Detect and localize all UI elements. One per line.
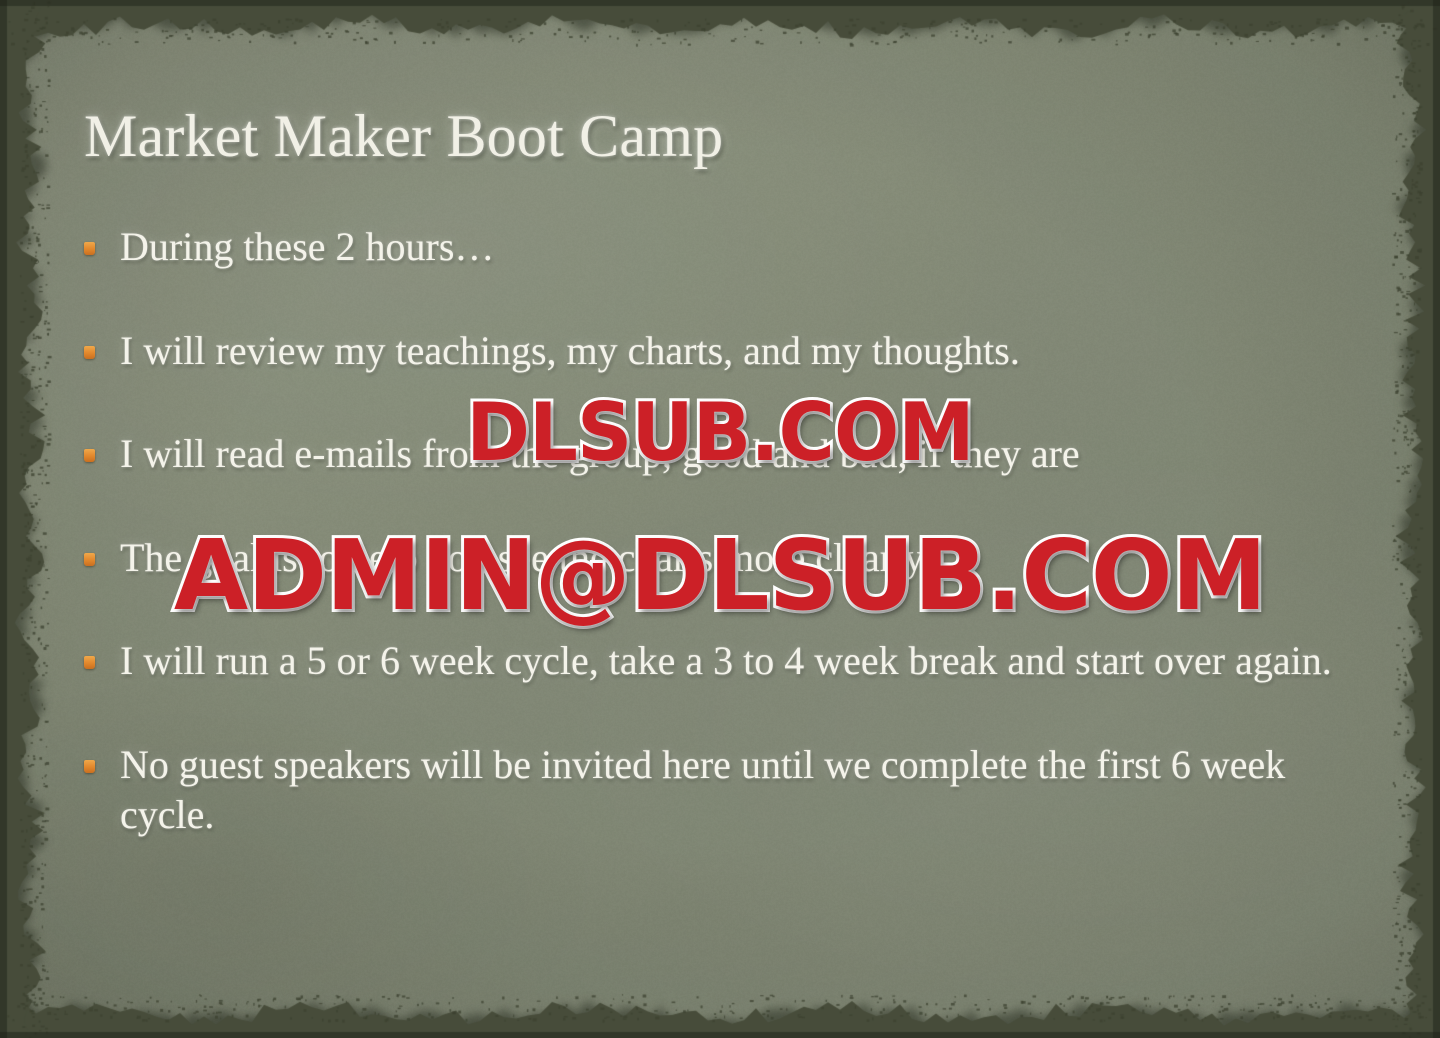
square-bullet-icon	[84, 760, 95, 773]
list-item: During these 2 hours…	[72, 222, 1362, 272]
page-title: Market Maker Boot Camp	[84, 106, 723, 166]
list-item: No guest speakers will be invited here u…	[72, 740, 1362, 839]
presentation-slide: Market Maker Boot Camp During these 2 ho…	[0, 0, 1440, 1038]
square-bullet-icon	[84, 242, 95, 255]
list-item-label: I will run a 5 or 6 week cycle, take a 3…	[120, 638, 1332, 683]
list-item-label: No guest speakers will be invited here u…	[120, 742, 1285, 837]
list-item-label: I will review my teachings, my charts, a…	[120, 328, 1020, 373]
square-bullet-icon	[84, 346, 95, 359]
watermark-contact-email: ADMIN@DLSUB.COM	[7, 519, 1433, 632]
square-bullet-icon	[84, 656, 95, 669]
list-item: I will run a 5 or 6 week cycle, take a 3…	[72, 636, 1362, 686]
watermark-site-url: DLSUB.COM	[29, 386, 1411, 479]
list-item-label: During these 2 hours…	[120, 224, 494, 269]
list-item: I will review my teachings, my charts, a…	[72, 326, 1362, 376]
